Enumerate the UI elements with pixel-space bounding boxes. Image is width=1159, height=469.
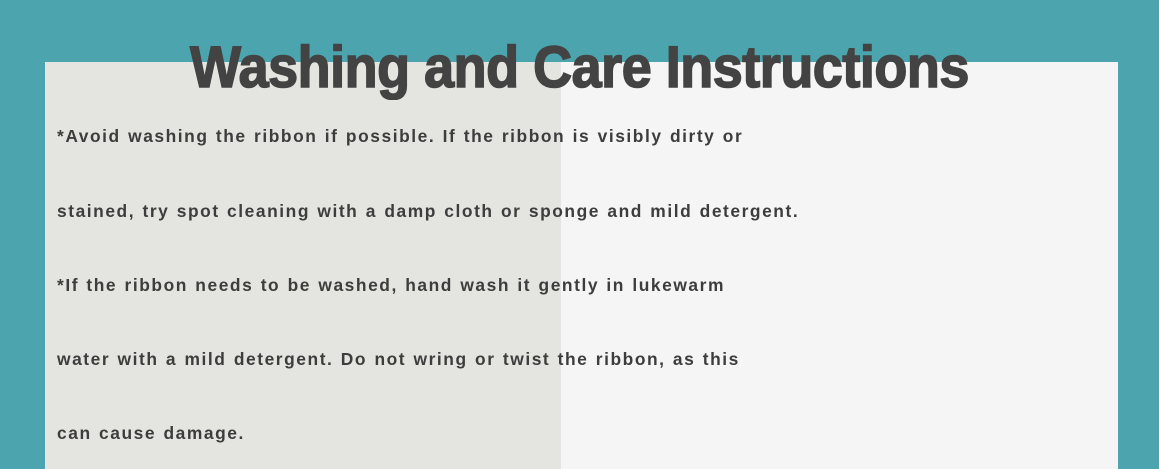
instruction-line: can cause damage. <box>57 421 1112 446</box>
instruction-line: *Avoid washing the ribbon if possible. I… <box>57 124 1112 149</box>
page-title: Washing and Care Instructions <box>41 37 1119 99</box>
instruction-line: water with a mild detergent. Do not wrin… <box>57 347 1112 372</box>
instructions-panel: *Avoid washing the ribbon if possible. I… <box>45 62 1118 469</box>
care-instructions-poster: Washing and Care Instructions *Avoid was… <box>0 0 1159 469</box>
instruction-line: stained, try spot cleaning with a damp c… <box>57 199 1112 224</box>
instruction-line: *If the ribbon needs to be washed, hand … <box>57 273 1112 298</box>
instructions-text-block: *Avoid washing the ribbon if possible. I… <box>57 75 1112 469</box>
